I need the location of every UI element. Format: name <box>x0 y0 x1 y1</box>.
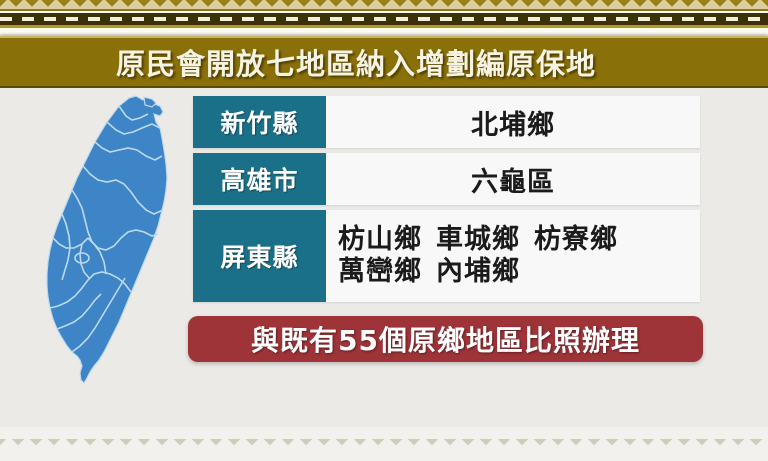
dashed-band <box>0 13 768 25</box>
zigzag-pattern-icon <box>0 439 768 450</box>
township-item: 枋山鄉 <box>338 224 422 255</box>
cream-strip <box>0 28 768 34</box>
township-list: 六龜區 <box>326 153 700 205</box>
dash-marks-icon <box>0 17 768 21</box>
county-label: 新竹縣 <box>193 96 326 148</box>
township-list: 枋山鄉車城鄉枋寮鄉 萬巒鄉內埔鄉 <box>326 210 700 302</box>
page-title: 原民會開放七地區納入增劃編原保地 <box>116 41 596 83</box>
header-bevel-top <box>0 36 768 38</box>
summary-banner-text: 與既有55個原鄉地區比照辦理 <box>251 319 640 359</box>
table-row: 新竹縣 北埔鄉 <box>193 96 700 148</box>
summary-banner: 與既有55個原鄉地區比照辦理 <box>188 316 703 362</box>
township-item: 內埔鄉 <box>436 256 520 287</box>
taiwan-map <box>36 94 186 386</box>
taiwan-landmass-icon <box>47 96 167 383</box>
bottom-decorative-border <box>0 427 768 461</box>
table-row: 高雄市 六龜區 <box>193 153 700 205</box>
table-row: 屏東縣 枋山鄉車城鄉枋寮鄉 萬巒鄉內埔鄉 <box>193 210 700 302</box>
township-item: 車城鄉 <box>436 224 520 255</box>
township-line: 萬巒鄉內埔鄉 <box>338 256 534 288</box>
township-item: 萬巒鄉 <box>338 256 422 287</box>
header-bar: 原民會開放七地區納入增劃編原保地 <box>0 36 768 88</box>
top-decorative-border <box>0 0 768 34</box>
township-item: 枋寮鄉 <box>534 224 618 255</box>
region-table: 新竹縣 北埔鄉 高雄市 六龜區 屏東縣 枋山鄉車城鄉枋寮鄉 萬巒鄉內埔鄉 <box>193 96 700 307</box>
township-line: 枋山鄉車城鄉枋寮鄉 <box>338 224 632 256</box>
header-bevel-bottom <box>0 86 768 88</box>
township-line: 北埔鄉 <box>471 103 555 142</box>
township-list: 北埔鄉 <box>326 96 700 148</box>
township-line: 六龜區 <box>471 160 555 199</box>
county-label: 屏東縣 <box>193 210 326 302</box>
county-label: 高雄市 <box>193 153 326 205</box>
